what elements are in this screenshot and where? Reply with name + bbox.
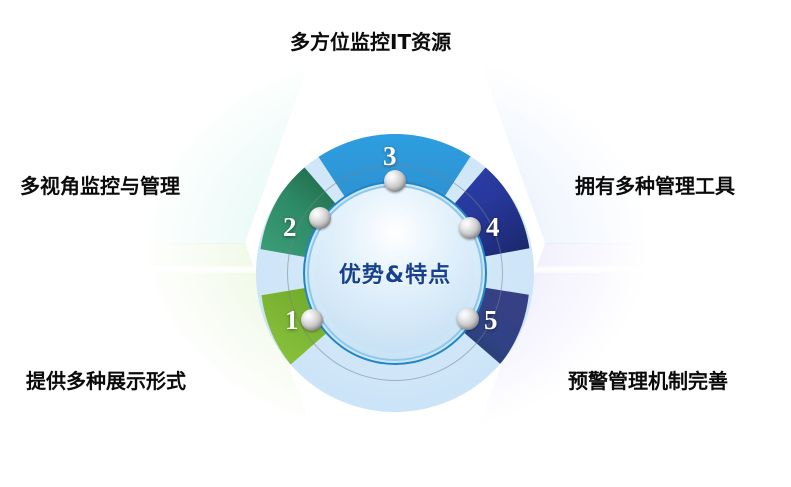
label-top: 多方位监控IT资源 — [290, 26, 451, 55]
center-label-text: 优势&特点 — [339, 257, 451, 289]
label-left-bottom: 提供多种展示形式 — [26, 365, 186, 394]
label-right-bottom: 预警管理机制完善 — [568, 365, 728, 394]
label-left-top: 多视角监控与管理 — [20, 170, 180, 199]
infographic-canvas: 1 2 3 4 5 优势&特点 多方位监控IT资源 多视角监控与管理 提供多种展… — [0, 0, 791, 487]
center-label: 优势&特点 — [235, 113, 555, 433]
label-right-top: 拥有多种管理工具 — [575, 170, 735, 199]
